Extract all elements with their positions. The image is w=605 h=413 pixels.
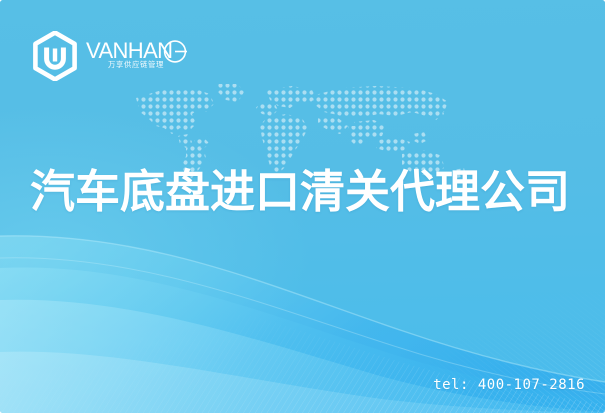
wordmark-subtitle: 万享供应链管理 bbox=[108, 60, 164, 69]
page-title: 汽车底盘进口清关代理公司 bbox=[30, 166, 590, 218]
brand-logo[interactable]: VANHAN 万享供应链管理 bbox=[32, 30, 198, 82]
hexagon-u-mark-icon bbox=[32, 31, 78, 81]
promo-banner: VANHAN 万享供应链管理 汽车底盘进口清关代理公司 tel: 400-107… bbox=[0, 0, 605, 413]
contact-phone[interactable]: tel: 400-107-2816 bbox=[433, 377, 585, 393]
brand-wordmark: VANHAN 万享供应链管理 bbox=[86, 36, 198, 76]
